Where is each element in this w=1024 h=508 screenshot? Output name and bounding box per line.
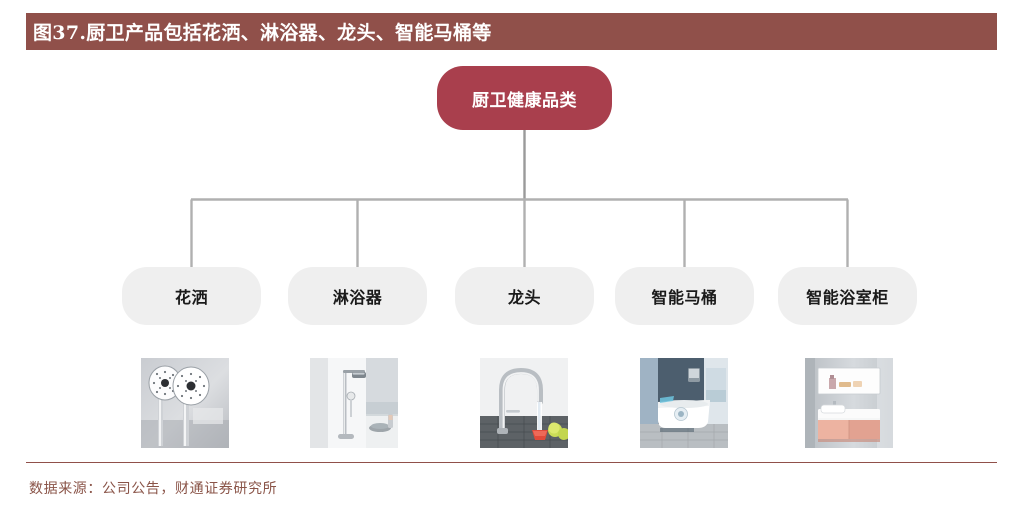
child-node-0[interactable]: 花洒 bbox=[122, 267, 261, 325]
child-node-1[interactable]: 淋浴器 bbox=[288, 267, 427, 325]
product-photo-shower-column bbox=[310, 358, 398, 448]
data-source-note: 数据来源：公司公告，财通证券研究所 bbox=[29, 478, 277, 498]
product-photo-smart-toilet bbox=[640, 358, 728, 448]
page-title: 图37.厨卫产品包括花洒、淋浴器、龙头、智能马桶等 bbox=[33, 18, 492, 45]
root-node-category[interactable]: 厨卫健康品类 bbox=[437, 66, 612, 130]
child-node-label: 龙头 bbox=[508, 284, 541, 308]
product-photo-faucet bbox=[480, 358, 568, 448]
child-node-label: 智能马桶 bbox=[651, 284, 717, 308]
child-node-2[interactable]: 龙头 bbox=[455, 267, 594, 325]
root-node-label: 厨卫健康品类 bbox=[472, 86, 577, 111]
figure-header-bar: 图37.厨卫产品包括花洒、淋浴器、龙头、智能马桶等 bbox=[26, 13, 997, 50]
footer-divider bbox=[26, 462, 997, 463]
child-node-label: 花洒 bbox=[175, 284, 208, 308]
child-node-4[interactable]: 智能浴室柜 bbox=[778, 267, 917, 325]
org-chart-canvas: 厨卫健康品类 花洒 淋浴器 龙头 智能马桶 智能浴室柜 bbox=[0, 50, 1024, 460]
child-node-label: 智能浴室柜 bbox=[806, 284, 889, 308]
product-photo-shower-head bbox=[141, 358, 229, 448]
product-photo-vanity-cabinet bbox=[805, 358, 893, 448]
child-node-3[interactable]: 智能马桶 bbox=[615, 267, 754, 325]
child-node-label: 淋浴器 bbox=[333, 284, 383, 308]
